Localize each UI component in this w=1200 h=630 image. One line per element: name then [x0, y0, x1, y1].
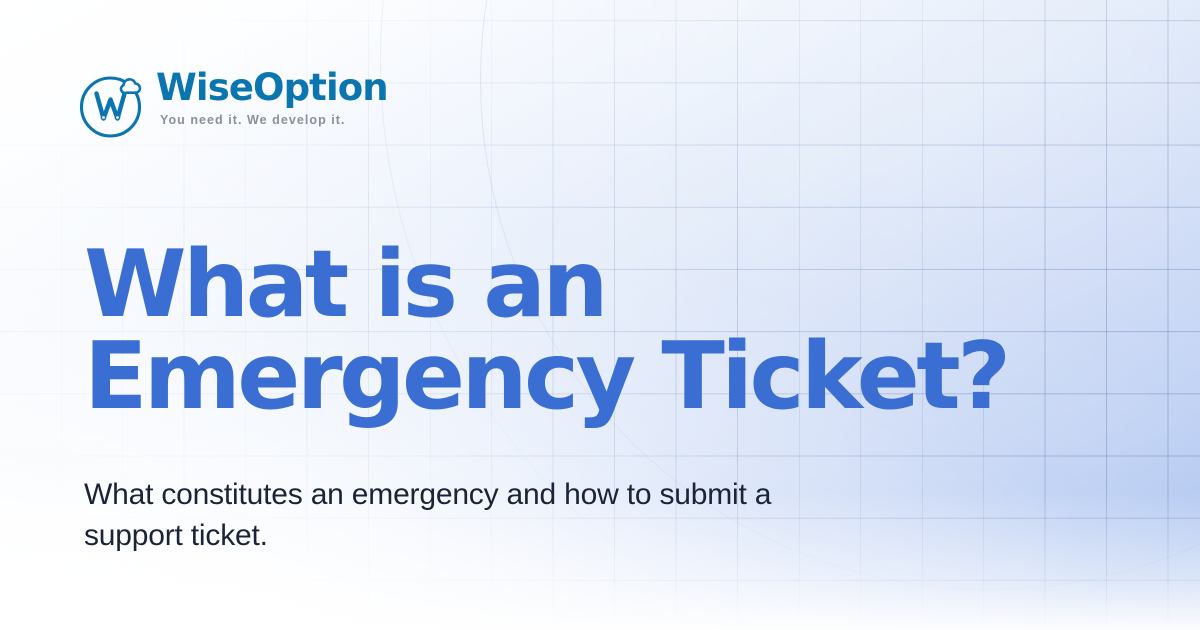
brand-logo-text: WiseOption You need it. We develop it. [156, 68, 388, 127]
hero-content: What is an Emergency Ticket? What consti… [84, 238, 1094, 556]
brand-name: WiseOption [156, 68, 388, 108]
page-subtitle: What constitutes an emergency and how to… [84, 474, 844, 556]
page-title: What is an Emergency Ticket? [84, 238, 1069, 422]
circle-w-cloud-icon [76, 66, 152, 142]
brand-logo[interactable]: WiseOption You need it. We develop it. [76, 68, 388, 142]
brand-tagline: You need it. We develop it. [160, 113, 388, 127]
social-share-card: WiseOption You need it. We develop it. W… [0, 0, 1200, 630]
